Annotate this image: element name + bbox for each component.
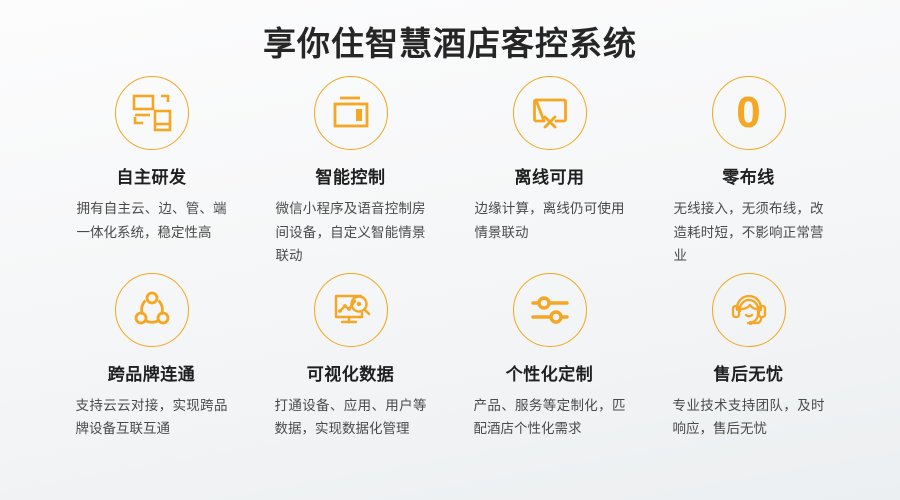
page-title: 享你住智慧酒店客控系统 — [0, 0, 900, 62]
zero-glyph: 0 — [736, 91, 760, 135]
modular-layout-icon — [115, 76, 189, 150]
feature-card-independent-rnd: 自主研发 拥有自主云、边、管、端一体化系统，稳定性高 — [52, 76, 251, 267]
sliders-icon — [513, 273, 587, 347]
feature-title: 售后无忧 — [714, 360, 784, 385]
feature-card-visual-data: 可视化数据 打通设备、应用、用户等数据，实现数据化管理 — [251, 273, 450, 464]
feature-card-customization: 个性化定制 产品、服务等定制化，匹配酒店个性化需求 — [450, 273, 649, 464]
feature-title: 离线可用 — [515, 163, 585, 188]
feature-description: 打通设备、应用、用户等数据，实现数据化管理 — [275, 394, 427, 440]
feature-description: 产品、服务等定制化，匹配酒店个性化需求 — [474, 394, 626, 440]
feature-description: 微信小程序及语音控制房间设备，自定义智能情景联动 — [276, 197, 426, 267]
feature-showcase-page: 享你住智慧酒店客控系统 自主研发 拥有自主云、边、管、端一体化系统，稳定性高 — [0, 0, 900, 500]
feature-title: 自主研发 — [117, 163, 187, 188]
feature-card-zero-wiring: 0 零布线 无线接入，无须布线，改造耗时短，不影响正常营业 — [649, 76, 848, 267]
feature-title: 可视化数据 — [307, 360, 395, 385]
feature-card-cross-brand: 跨品牌连通 支持云云对接，实现跨品牌设备互联互通 — [52, 273, 251, 464]
feature-title: 智能控制 — [316, 163, 386, 188]
zero-digit-icon: 0 — [712, 76, 786, 150]
feature-description: 拥有自主云、边、管、端一体化系统，稳定性高 — [77, 197, 227, 243]
feature-card-smart-control: 智能控制 微信小程序及语音控制房间设备，自定义智能情景联动 — [251, 76, 450, 267]
control-panel-icon — [314, 76, 388, 150]
feature-title: 零布线 — [722, 163, 775, 188]
share-network-icon — [115, 273, 189, 347]
data-monitor-search-icon — [314, 273, 388, 347]
feature-grid: 自主研发 拥有自主云、边、管、端一体化系统，稳定性高 智能控制 微信小程序及语音… — [0, 76, 900, 463]
feature-description: 无线接入，无须布线，改造耗时短，不影响正常营业 — [674, 197, 824, 267]
feature-title: 个性化定制 — [506, 360, 594, 385]
screen-offline-icon — [513, 76, 587, 150]
feature-description: 边缘计算，离线仍可使用情景联动 — [475, 197, 625, 243]
feature-description: 专业技术支持团队，及时响应，售后无忧 — [673, 394, 825, 440]
feature-description: 支持云云对接，实现跨品牌设备互联互通 — [76, 394, 228, 440]
feature-card-offline-available: 离线可用 边缘计算，离线仍可使用情景联动 — [450, 76, 649, 267]
feature-title: 跨品牌连通 — [108, 360, 196, 385]
headset-support-icon — [712, 273, 786, 347]
feature-card-after-sales: 售后无忧 专业技术支持团队，及时响应，售后无忧 — [649, 273, 848, 464]
